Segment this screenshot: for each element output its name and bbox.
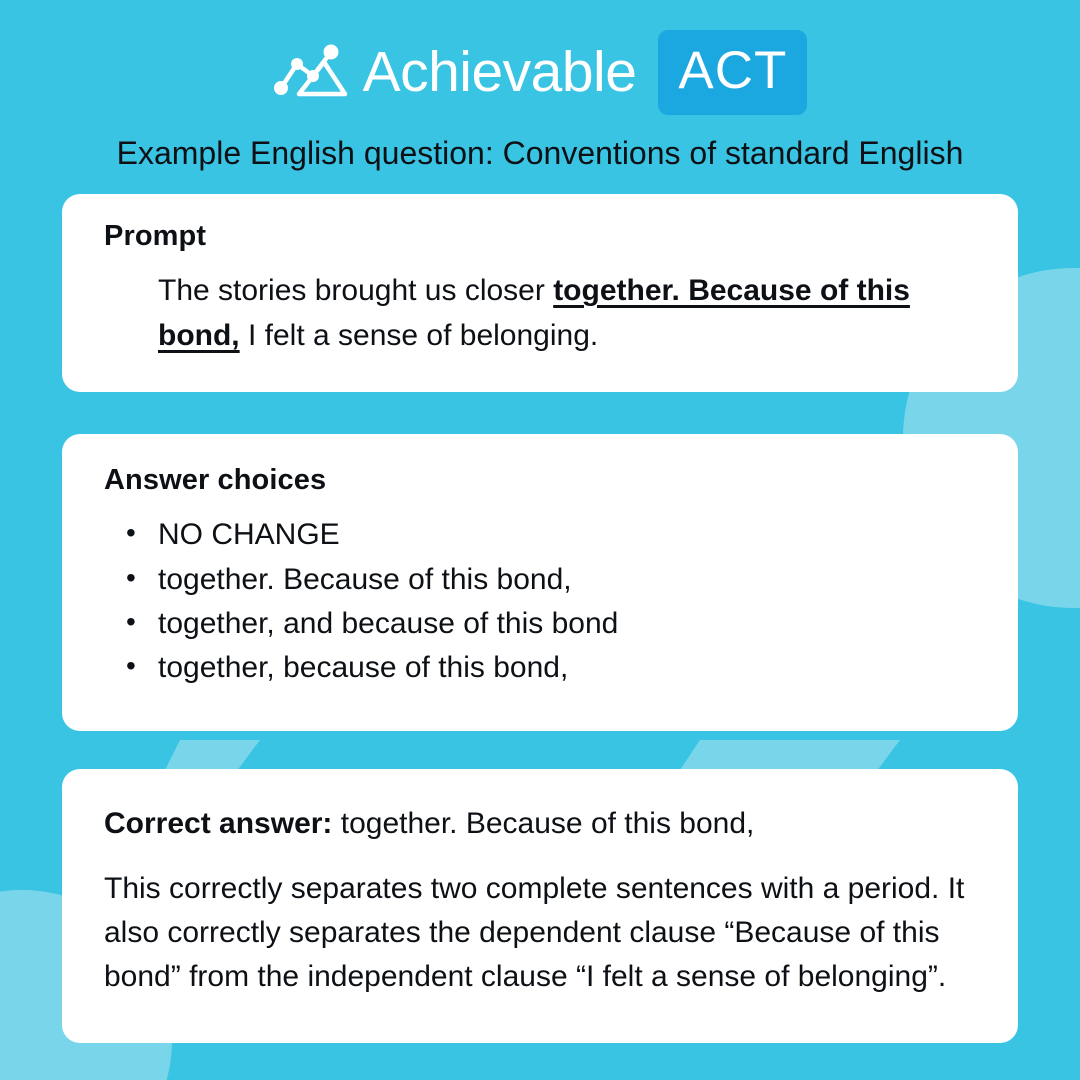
prompt-text-before: The stories brought us closer [158, 274, 553, 307]
correct-answer-label: Correct answer: [104, 807, 332, 840]
correct-answer-card: Correct answer: together. Because of thi… [62, 769, 1018, 1043]
answer-choices-list: NO CHANGE together. Because of this bond… [104, 513, 976, 691]
act-badge: ACT [658, 30, 807, 115]
list-item[interactable]: NO CHANGE [126, 513, 976, 557]
line-chart-mountain-icon [273, 44, 351, 100]
page-subtitle: Example English question: Conventions of… [0, 134, 1080, 172]
correct-answer-line: Correct answer: together. Because of thi… [104, 803, 976, 845]
list-item[interactable]: together, and because of this bond [126, 602, 976, 646]
brand-logo: Achievable ACT [0, 34, 1080, 110]
prompt-text-after: I felt a sense of belonging. [240, 319, 599, 352]
content-cards: Prompt The stories brought us closer tog… [0, 194, 1080, 1043]
page-header: Achievable ACT Example English question:… [0, 0, 1080, 172]
list-item[interactable]: together, because of this bond, [126, 646, 976, 690]
correct-answer-value: together. Because of this bond, [332, 807, 754, 840]
answer-choices-heading: Answer choices [104, 464, 976, 497]
answer-choices-card: Answer choices NO CHANGE together. Becau… [62, 434, 1018, 731]
answer-explanation: This correctly separates two complete se… [104, 867, 976, 999]
brand-name: Achievable [363, 44, 637, 101]
prompt-text: The stories brought us closer together. … [104, 269, 976, 358]
prompt-card: Prompt The stories brought us closer tog… [62, 194, 1018, 392]
prompt-heading: Prompt [104, 220, 976, 253]
list-item[interactable]: together. Because of this bond, [126, 558, 976, 602]
